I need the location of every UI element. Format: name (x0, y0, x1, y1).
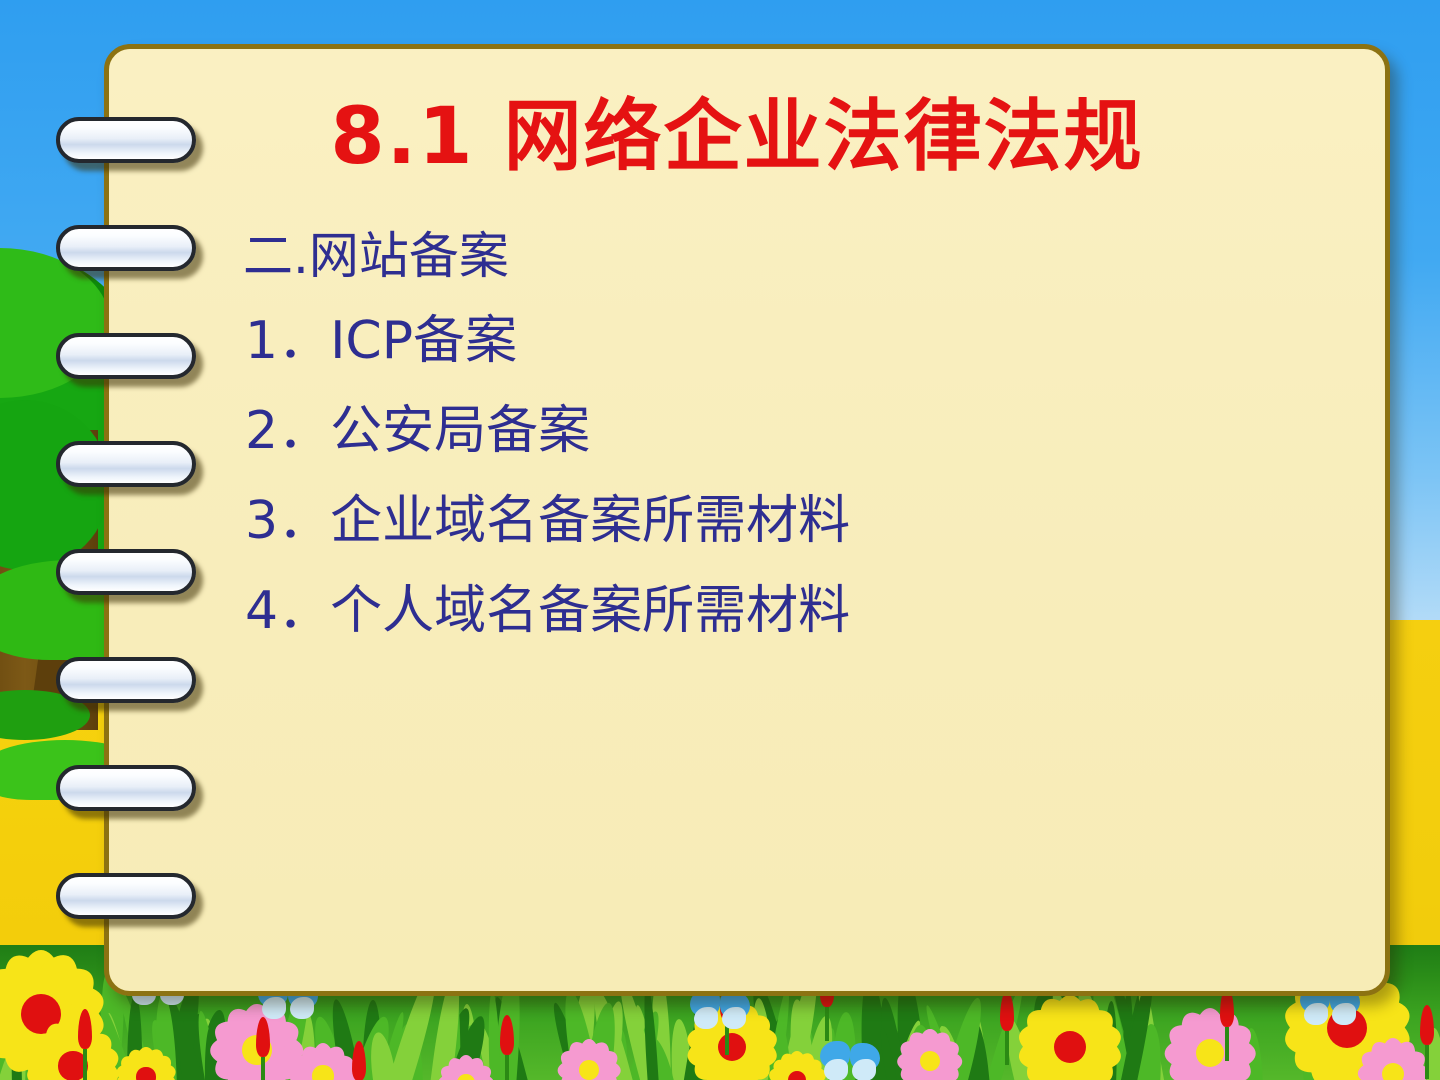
list-item: 4．个人域名备案所需材料 (243, 585, 1345, 637)
butterfly-icon (820, 1041, 880, 1080)
flower-icon (770, 1053, 824, 1080)
tulip-icon (500, 1015, 514, 1080)
list-item: 2．公安局备案 (243, 405, 1345, 457)
flower-icon (292, 1045, 354, 1080)
flower-icon (1360, 1041, 1426, 1080)
binder-ring (56, 873, 196, 919)
tulip-icon (352, 1041, 366, 1080)
flower-icon (900, 1031, 960, 1080)
binder-ring (56, 549, 196, 595)
list-item: 1．ICP备案 (243, 315, 1345, 367)
binder-ring (56, 657, 196, 703)
flower-icon (30, 1023, 116, 1080)
flower-icon (118, 1049, 174, 1080)
page-title: 8.1 网络企业法律法规 (229, 97, 1345, 179)
flower-icon (440, 1057, 492, 1080)
binder-ring (56, 225, 196, 271)
binder-ring (56, 441, 196, 487)
notepad-panel: 8.1 网络企业法律法规 二.网站备案 1．ICP备案 2．公安局备案 3．企业… (104, 44, 1390, 996)
list-item: 3．企业域名备案所需材料 (243, 495, 1345, 547)
flower-icon (560, 1041, 618, 1080)
tulip-icon (256, 1017, 270, 1080)
binder-ring (56, 117, 196, 163)
flower-icon (1168, 1011, 1252, 1080)
binder-ring (56, 765, 196, 811)
flower-icon (1022, 999, 1118, 1080)
content-list: 二.网站备案 1．ICP备案 2．公安局备案 3．企业域名备案所需材料 4．个人… (229, 231, 1345, 637)
binder-ring (56, 333, 196, 379)
tulip-icon (1220, 987, 1234, 1061)
tulip-icon (1000, 991, 1014, 1065)
list-item: 二.网站备案 (243, 231, 1345, 281)
tulip-icon (1420, 1005, 1434, 1079)
tulip-icon (78, 1009, 92, 1080)
slide-canvas: 8.1 网络企业法律法规 二.网站备案 1．ICP备案 2．公安局备案 3．企业… (0, 0, 1440, 1080)
